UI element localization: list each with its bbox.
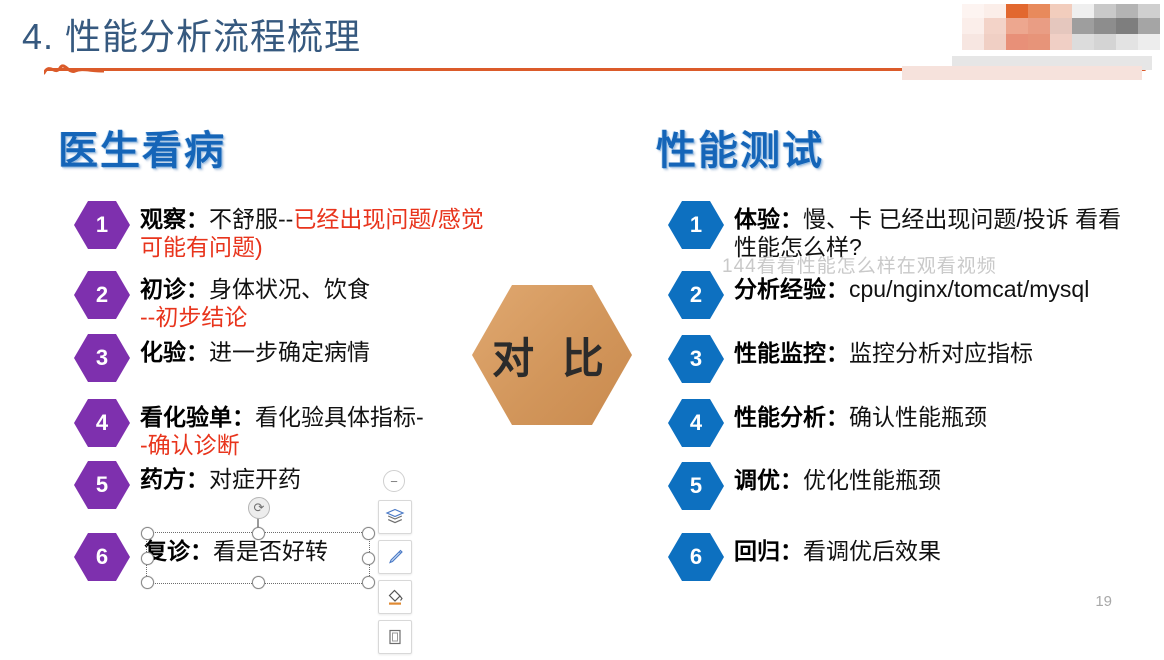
resize-handle-e[interactable] bbox=[362, 552, 375, 565]
collapse-toolbar-icon[interactable]: − bbox=[383, 470, 405, 492]
step-marker-5: 5 bbox=[74, 460, 130, 510]
step-marker-4: 4 bbox=[74, 398, 130, 448]
step-marker-2: 2 bbox=[668, 270, 724, 320]
resize-handle-se[interactable] bbox=[362, 576, 375, 589]
list-item-body: 优化性能瓶颈 bbox=[803, 467, 941, 493]
list-item[interactable]: 1 观察：不舒服--已经出现问题/感觉可能有问题) bbox=[74, 200, 494, 261]
list-item[interactable]: 1 体验：慢、卡 已经出现问题/投诉 看看性能怎么样? bbox=[668, 200, 1138, 261]
column-heading-left: 医生看病 bbox=[58, 118, 226, 176]
rotate-handle[interactable]: ⟳ bbox=[248, 497, 270, 519]
fill-color-button[interactable] bbox=[378, 580, 412, 614]
resize-handle-sw[interactable] bbox=[141, 576, 154, 589]
list-item-text: 看化验单：看化验具体指标--确认诊断 bbox=[140, 398, 424, 459]
list-item-text: 调优：优化性能瓶颈 bbox=[734, 461, 941, 494]
list-item-text: 性能监控：监控分析对应指标 bbox=[734, 334, 1033, 367]
step-marker-6: 6 bbox=[668, 532, 724, 582]
layers-icon bbox=[385, 507, 405, 527]
list-item-text: 药方：对症开药 bbox=[140, 460, 301, 493]
step-marker-3: 3 bbox=[74, 333, 130, 383]
list-item-label: 性能分析： bbox=[734, 404, 849, 430]
list-item-body: 监控分析对应指标 bbox=[849, 340, 1033, 366]
step-marker-2: 2 bbox=[74, 270, 130, 320]
brush-icon bbox=[385, 547, 405, 567]
list-item-label: 回归： bbox=[734, 538, 803, 564]
list-item-text: 分析经验：cpu/nginx/tomcat/mysql bbox=[734, 270, 1089, 303]
brush-button[interactable] bbox=[378, 540, 412, 574]
fill-icon bbox=[385, 587, 405, 607]
selection-bounding-box[interactable]: ⟳ bbox=[146, 532, 370, 584]
list-item-highlight: --初步结论 bbox=[140, 304, 247, 330]
step-marker-4: 4 bbox=[668, 398, 724, 448]
duplicate-button[interactable] bbox=[378, 620, 412, 654]
page-title: 4. 性能分析流程梳理 bbox=[22, 8, 361, 60]
list-item[interactable]: 6 回归：看调优后效果 bbox=[668, 532, 1138, 582]
list-item[interactable]: 3 性能监控：监控分析对应指标 bbox=[668, 334, 1138, 384]
list-item-body: 确认性能瓶颈 bbox=[849, 404, 987, 430]
step-marker-1: 1 bbox=[668, 200, 724, 250]
list-item[interactable]: 5 调优：优化性能瓶颈 bbox=[668, 461, 1138, 511]
list-item-text: 化验：进一步确定病情 bbox=[140, 333, 370, 366]
list-item-label: 化验： bbox=[140, 339, 209, 365]
step-marker-1: 1 bbox=[74, 200, 130, 250]
list-item-label: 观察： bbox=[140, 206, 209, 232]
list-item[interactable]: 4 看化验单：看化验具体指标--确认诊断 bbox=[74, 398, 504, 459]
list-item[interactable]: 4 性能分析：确认性能瓶颈 bbox=[668, 398, 1138, 448]
list-item-body: 不舒服-- bbox=[209, 206, 293, 232]
list-item-body: 看化验具体指标- bbox=[255, 404, 424, 430]
list-item[interactable]: 5 药方：对症开药 bbox=[74, 460, 494, 510]
list-item-text: 观察：不舒服--已经出现问题/感觉可能有问题) bbox=[140, 200, 494, 261]
list-item-label: 性能监控： bbox=[734, 340, 849, 366]
title-underline bbox=[46, 68, 1146, 71]
list-item-label: 看化验单： bbox=[140, 404, 255, 430]
list-item[interactable]: 2 分析经验：cpu/nginx/tomcat/mysql bbox=[668, 270, 1138, 320]
layers-button[interactable] bbox=[378, 500, 412, 534]
list-item-body: cpu/nginx/tomcat/mysql bbox=[849, 276, 1089, 302]
step-marker-6: 6 bbox=[74, 532, 130, 582]
list-item-body: 身体状况、饮食 bbox=[209, 276, 370, 302]
redacted-logo-mosaic bbox=[962, 4, 1162, 76]
list-item-label: 调优： bbox=[734, 467, 803, 493]
list-item-body: 看调优后效果 bbox=[803, 538, 941, 564]
list-item-label: 体验： bbox=[734, 206, 803, 232]
list-item-label: 初诊： bbox=[140, 276, 209, 302]
page-number: 19 bbox=[1095, 593, 1112, 610]
resize-handle-ne[interactable] bbox=[362, 527, 375, 540]
slide-canvas: 4. 性能分析流程梳理 医生看病 bbox=[0, 0, 1164, 630]
list-item[interactable]: 2 初诊：身体状况、饮食--初步结论 bbox=[74, 270, 494, 331]
resize-handle-n[interactable] bbox=[252, 527, 265, 540]
list-item-label: 药方： bbox=[140, 466, 209, 492]
list-item-text: 初诊：身体状况、饮食--初步结论 bbox=[140, 270, 370, 331]
floating-mini-toolbar[interactable]: − bbox=[378, 470, 410, 660]
step-marker-3: 3 bbox=[668, 334, 724, 384]
resize-handle-w[interactable] bbox=[141, 552, 154, 565]
list-item-text: 体验：慢、卡 已经出现问题/投诉 看看性能怎么样? bbox=[734, 200, 1138, 261]
list-item[interactable]: 3 化验：进一步确定病情 bbox=[74, 333, 494, 383]
resize-handle-s[interactable] bbox=[252, 576, 265, 589]
list-item-text: 性能分析：确认性能瓶颈 bbox=[734, 398, 987, 431]
list-item-text: 回归：看调优后效果 bbox=[734, 532, 941, 565]
list-item-highlight: -确认诊断 bbox=[140, 432, 240, 458]
duplicate-icon bbox=[385, 627, 405, 647]
list-item-label: 分析经验： bbox=[734, 276, 849, 302]
resize-handle-nw[interactable] bbox=[141, 527, 154, 540]
list-item-body: 对症开药 bbox=[209, 466, 301, 492]
step-marker-5: 5 bbox=[668, 461, 724, 511]
column-heading-right: 性能测试 bbox=[656, 118, 824, 176]
list-item-body: 进一步确定病情 bbox=[209, 339, 370, 365]
